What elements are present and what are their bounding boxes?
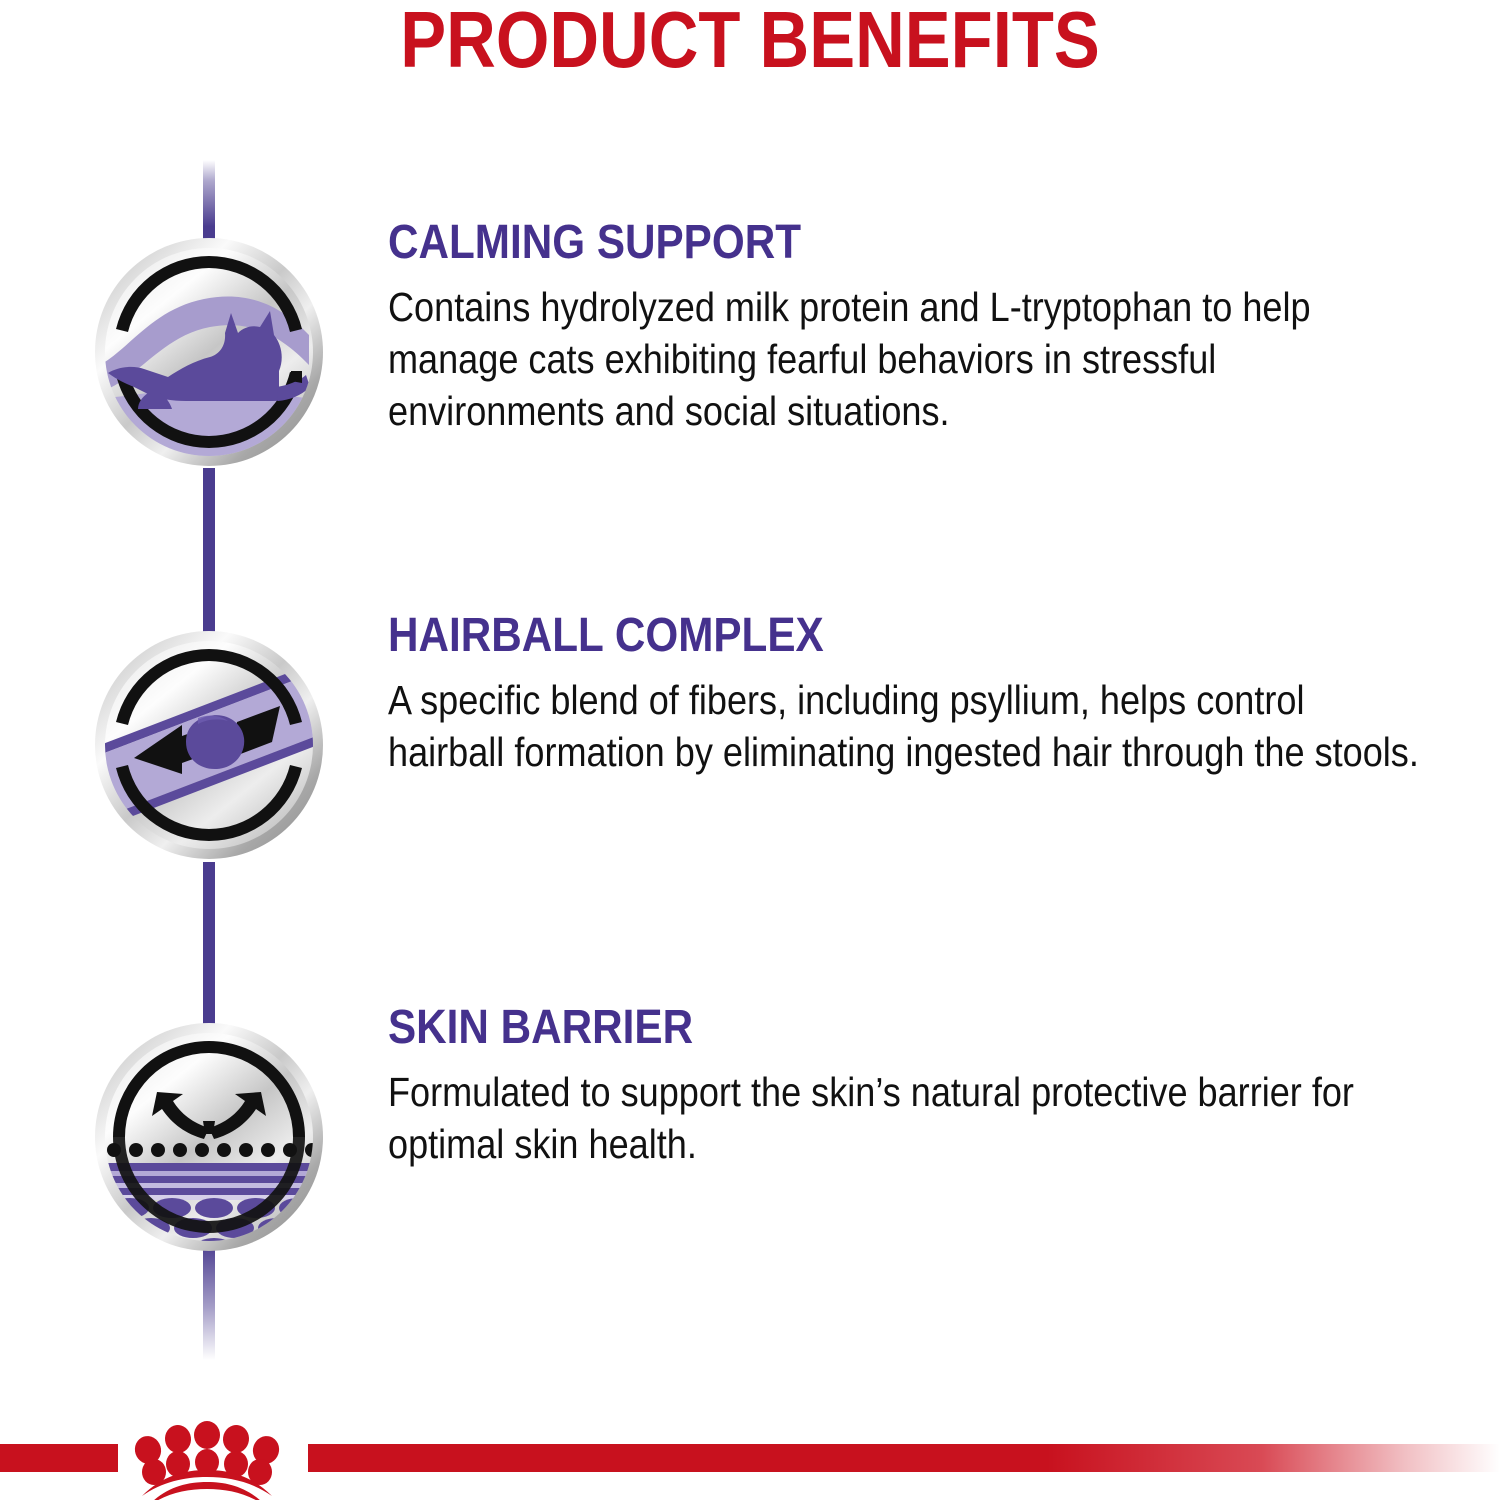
benefit-heading-calming-support: CALMING SUPPORT [388, 215, 1303, 271]
benefit-heading-hairball-complex: HAIRBALL COMPLEX [388, 608, 1303, 664]
benefit-item-skin-barrier: SKIN BARRIER Formulated to support the s… [0, 1022, 1500, 1272]
benefit-text-skin-barrier: SKIN BARRIER Formulated to support the s… [388, 1000, 1428, 1170]
connector-line-middle-2 [203, 862, 215, 1028]
benefit-body-calming-support: Contains hydrolyzed milk protein and L-t… [388, 281, 1426, 437]
skin-barrier-icon [94, 1022, 324, 1252]
benefit-item-hairball-complex: HAIRBALL COMPLEX A specific blend of fib… [0, 630, 1500, 880]
benefit-body-skin-barrier: Formulated to support the skin’s natural… [388, 1066, 1426, 1170]
footer-bar-right [308, 1444, 1500, 1472]
benefit-item-calming-support: CALMING SUPPORT Contains hydrolyzed milk… [0, 237, 1500, 487]
benefit-text-hairball-complex: HAIRBALL COMPLEX A specific blend of fib… [388, 608, 1428, 778]
benefit-text-calming-support: CALMING SUPPORT Contains hydrolyzed milk… [388, 215, 1428, 437]
page-title: PRODUCT BENEFITS [105, 0, 1395, 86]
calming-cat-icon [94, 237, 324, 467]
footer-bar-left [0, 1444, 118, 1472]
benefit-heading-skin-barrier: SKIN BARRIER [388, 1000, 1303, 1056]
hairball-transit-icon [94, 630, 324, 860]
benefit-body-hairball-complex: A specific blend of fibers, including ps… [388, 674, 1426, 778]
connector-line-middle-1 [203, 468, 215, 636]
footer-brand-bar [0, 1420, 1500, 1500]
royal-canin-crown-logo [112, 1420, 302, 1500]
